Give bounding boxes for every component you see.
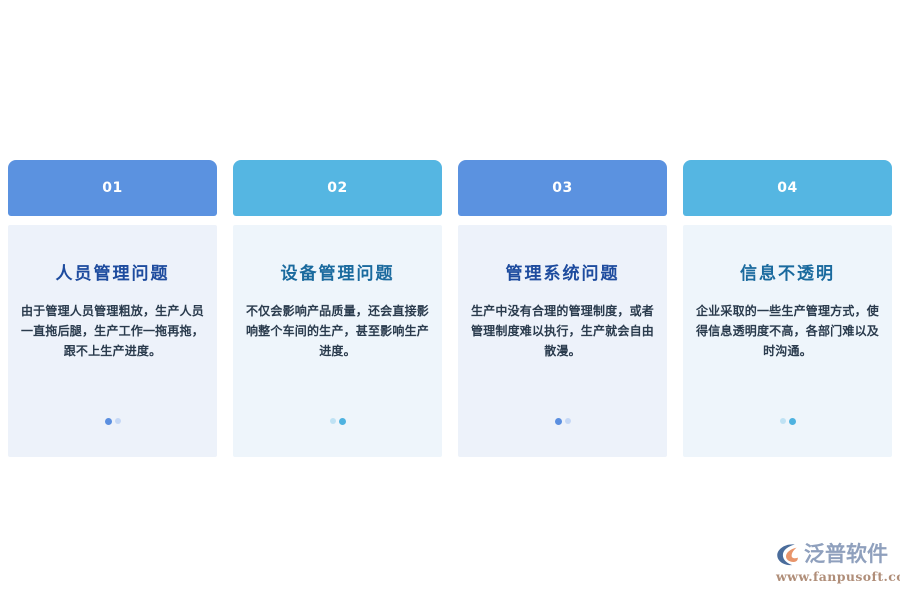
problem-card-list: 01 人员管理问题 由于管理人员管理粗放，生产人员一直拖后腿，生产工作一拖再拖，… (8, 160, 892, 460)
card-title-02: 设备管理问题 (281, 264, 395, 284)
card-description-02: 不仅会影响产品质量，还会直接影响整个车间的生产，甚至影响生产进度。 (244, 302, 431, 361)
card-dots-01 (105, 417, 121, 425)
card-number-01: 01 (102, 180, 122, 196)
dot-inactive-04 (780, 418, 786, 424)
problem-card-03[interactable]: 03 管理系统问题 生产中没有合理的管理制度，或者管理制度难以执行，生产就会自由… (458, 160, 667, 457)
slide-canvas: 01 人员管理问题 由于管理人员管理粗放，生产人员一直拖后腿，生产工作一拖再拖，… (0, 0, 900, 600)
problem-card-01[interactable]: 01 人员管理问题 由于管理人员管理粗放，生产人员一直拖后腿，生产工作一拖再拖，… (8, 160, 217, 457)
dot-inactive-01 (115, 418, 121, 424)
fanpu-watermark: 泛普软件 www.fanpusoft.com (776, 541, 892, 585)
card-header-04: 04 (683, 160, 892, 216)
logo-company-name: 泛普软件 (804, 542, 888, 567)
card-dots-04 (780, 417, 796, 425)
card-description-04: 企业采取的一些生产管理方式，使得信息透明度不高，各部门难以及时沟通。 (694, 302, 881, 361)
card-title-01: 人员管理问题 (56, 264, 170, 284)
dot-active-01 (105, 418, 112, 425)
dot-active-04 (789, 418, 796, 425)
card-description-03: 生产中没有合理的管理制度，或者管理制度难以执行，生产就会自由散漫。 (469, 302, 656, 361)
problem-card-04[interactable]: 04 信息不透明 企业采取的一些生产管理方式，使得信息透明度不高，各部门难以及时… (683, 160, 892, 457)
card-description-01: 由于管理人员管理粗放，生产人员一直拖后腿，生产工作一拖再拖，跟不上生产进度。 (19, 302, 206, 361)
card-header-02: 02 (233, 160, 442, 216)
dot-active-02 (339, 418, 346, 425)
card-body-01: 人员管理问题 由于管理人员管理粗放，生产人员一直拖后腿，生产工作一拖再拖，跟不上… (8, 225, 217, 457)
card-dots-02 (330, 417, 346, 425)
logo-row: 泛普软件 (776, 541, 892, 568)
dot-inactive-02 (330, 418, 336, 424)
dot-active-03 (555, 418, 562, 425)
dot-inactive-03 (565, 418, 571, 424)
card-body-04: 信息不透明 企业采取的一些生产管理方式，使得信息透明度不高，各部门难以及时沟通。 (683, 225, 892, 457)
card-header-01: 01 (8, 160, 217, 216)
problem-card-02[interactable]: 02 设备管理问题 不仅会影响产品质量，还会直接影响整个车间的生产，甚至影响生产… (233, 160, 442, 457)
card-title-04: 信息不透明 (740, 264, 835, 284)
card-body-02: 设备管理问题 不仅会影响产品质量，还会直接影响整个车间的生产，甚至影响生产进度。 (233, 225, 442, 457)
card-number-02: 02 (327, 180, 347, 196)
card-dots-03 (555, 417, 571, 425)
card-title-03: 管理系统问题 (506, 264, 620, 284)
card-body-03: 管理系统问题 生产中没有合理的管理制度，或者管理制度难以执行，生产就会自由散漫。 (458, 225, 667, 457)
card-number-03: 03 (552, 180, 572, 196)
fanpu-logo-icon (776, 542, 801, 567)
card-number-04: 04 (777, 180, 797, 196)
logo-website-url: www.fanpusoft.com (776, 569, 892, 584)
card-header-03: 03 (458, 160, 667, 216)
